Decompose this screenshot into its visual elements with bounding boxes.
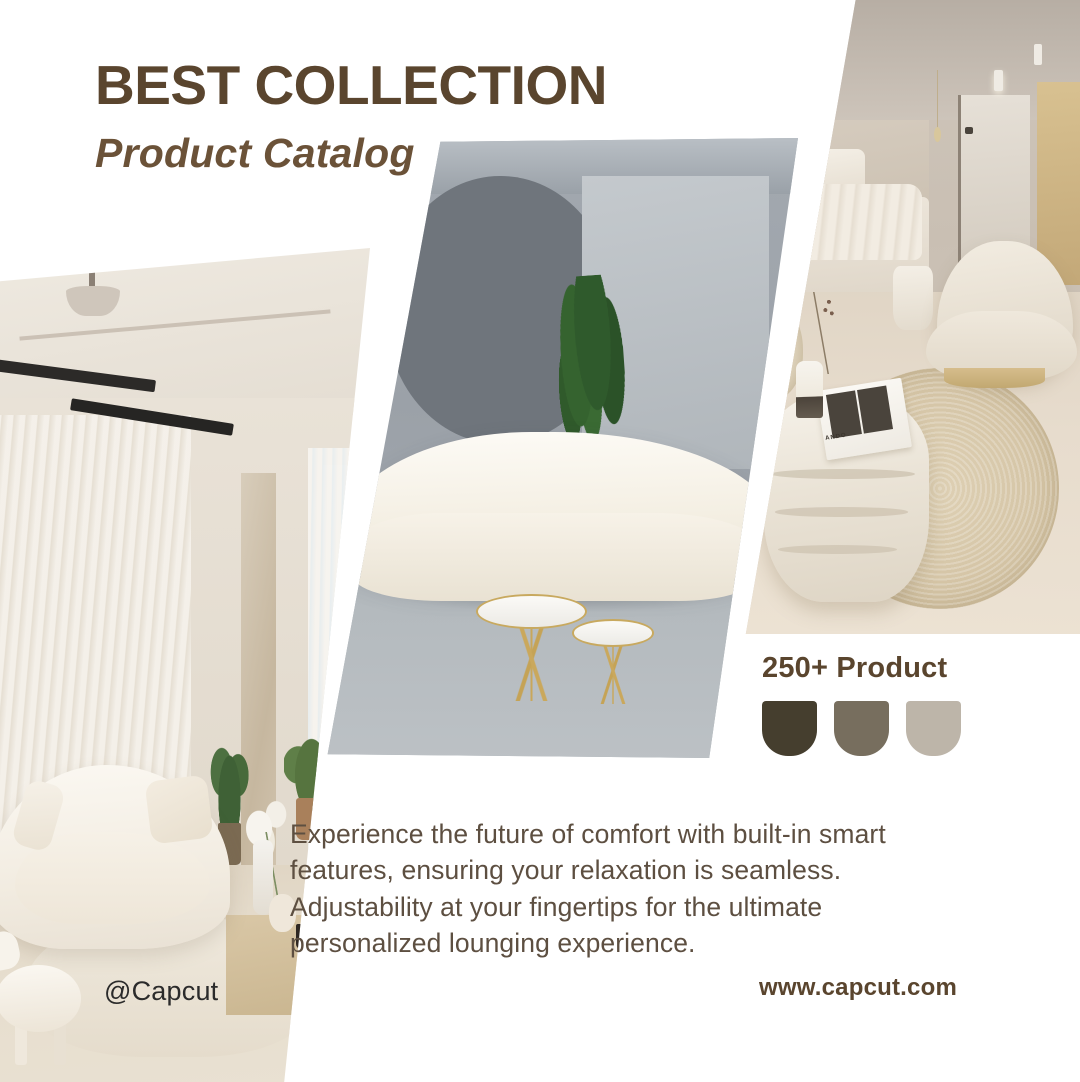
description-paragraph: Experience the future of comfort with bu…: [290, 816, 955, 961]
armchair-gold-base: [944, 368, 1045, 388]
pendant-cord: [89, 248, 94, 290]
swatch-taupe[interactable]: [834, 701, 889, 756]
swatch-light-beige[interactable]: [906, 701, 961, 756]
poster-canvas: BEST COLLECTION Product Catalog: [0, 0, 1080, 1080]
sofa-pillow: [144, 774, 214, 844]
door-handle-icon: [965, 127, 972, 135]
color-swatch-list: [762, 701, 961, 756]
pendant-bulb-icon: [934, 127, 941, 142]
page-subtitle: Product Catalog: [95, 130, 607, 177]
coffee-table-top: [476, 594, 586, 629]
ceramic-vase: [796, 361, 823, 418]
page-title: BEST COLLECTION: [95, 58, 607, 113]
stone-layer-line-2: [775, 507, 908, 517]
ceramic-stool: [893, 266, 933, 329]
product-count-label: 250+ Product: [762, 652, 961, 685]
gallery-image-middle-studio-sofa[interactable]: [318, 138, 798, 763]
product-count-block: 250+ Product: [762, 652, 961, 756]
sofa-base: [352, 513, 760, 601]
website-url[interactable]: www.capcut.com: [759, 974, 957, 1002]
pendant-cord: [937, 70, 939, 133]
spotlight-icon-2: [1034, 44, 1042, 64]
spotlight-icon: [994, 70, 1003, 92]
side-table-top: [572, 619, 654, 647]
swatch-dark-olive[interactable]: [762, 701, 817, 756]
header-block: BEST COLLECTION Product Catalog: [95, 58, 607, 177]
gallery-image-right-bedroom[interactable]: ANDO: [735, 0, 1080, 634]
right-scene: ANDO: [735, 0, 1080, 634]
ceiling: [0, 248, 370, 415]
middle-scene: [318, 138, 798, 763]
social-handle: @Capcut: [104, 976, 218, 1007]
